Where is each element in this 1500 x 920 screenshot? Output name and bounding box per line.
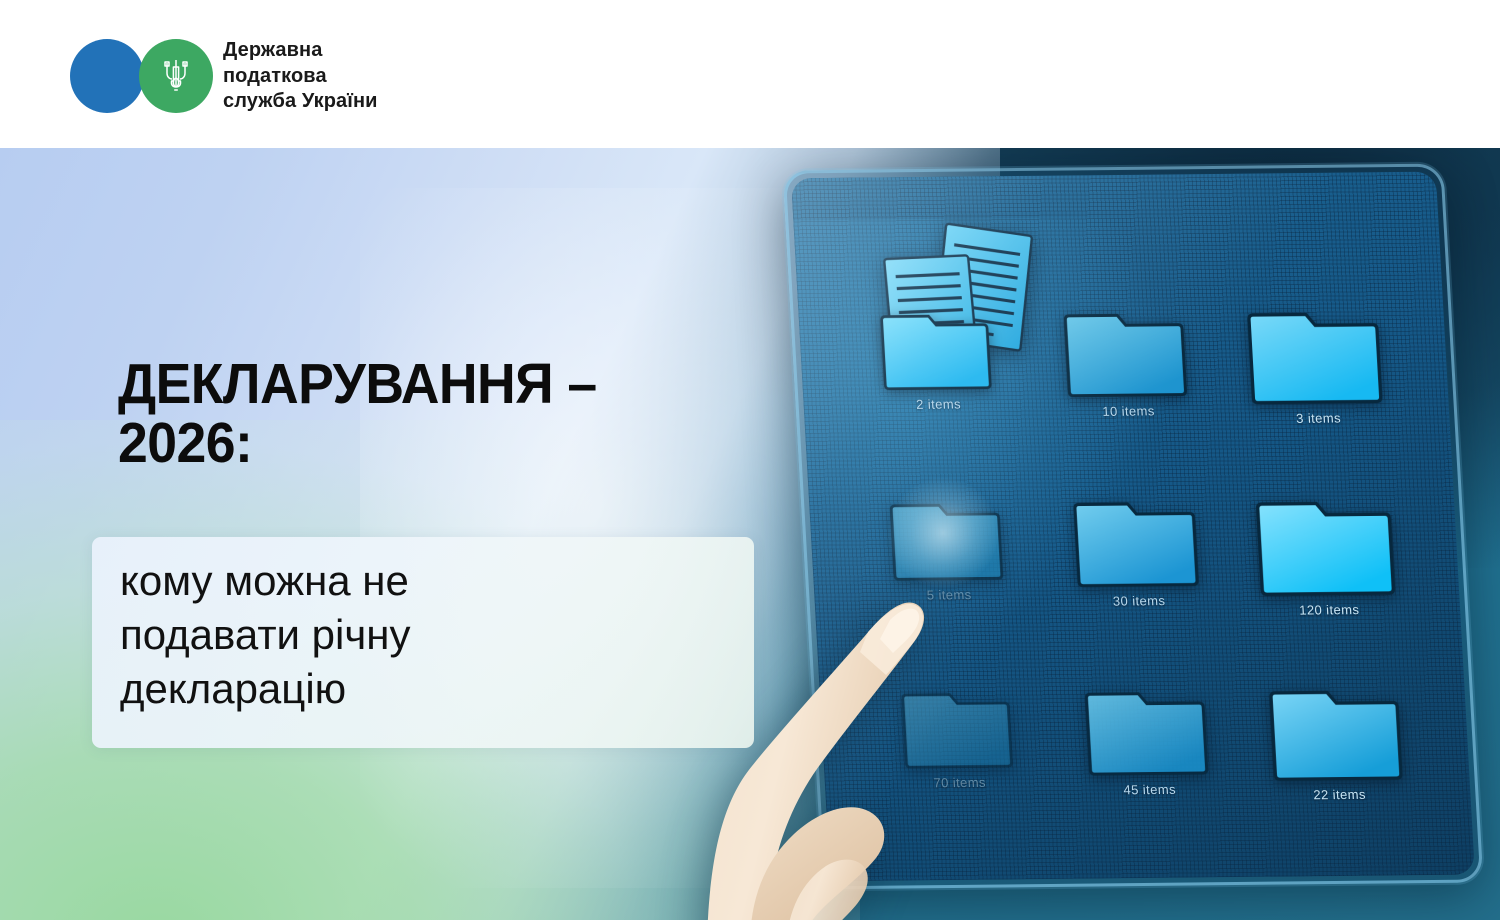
hero-text-block: ДЕКЛАРУВАННЯ – 2026: кому можна не подав…: [0, 148, 780, 920]
tryzub-icon: [161, 57, 191, 95]
green-circle-icon: [139, 39, 213, 113]
page-subtitle: кому можна не подавати річну декларацію: [120, 554, 740, 717]
logo-text-line-2: податкова: [223, 64, 378, 90]
subtitle-line-1: кому можна не: [120, 554, 740, 608]
tax-service-logo: Державна податкова служба України: [70, 38, 378, 115]
logo-circles: [70, 39, 215, 113]
logo-text-line-3: служба України: [223, 89, 378, 115]
page-title: ДЕКЛАРУВАННЯ – 2026:: [118, 355, 701, 474]
header-bar: Державна податкова служба України: [0, 0, 1500, 148]
logo-text-line-1: Державна: [223, 38, 378, 64]
subtitle-line-2: подавати річну: [120, 608, 740, 662]
headline-line-1: ДЕКЛАРУВАННЯ –: [118, 352, 597, 416]
logo-wordmark: Державна податкова служба України: [223, 38, 378, 115]
subtitle-line-3: декларацію: [120, 662, 740, 716]
blue-circle-icon: [70, 39, 144, 113]
headline-line-2: 2026:: [118, 414, 701, 473]
declaration-2026-banner: Державна податкова служба України: [0, 0, 1500, 920]
hero-stage: 2 items 10 items: [0, 148, 1500, 920]
